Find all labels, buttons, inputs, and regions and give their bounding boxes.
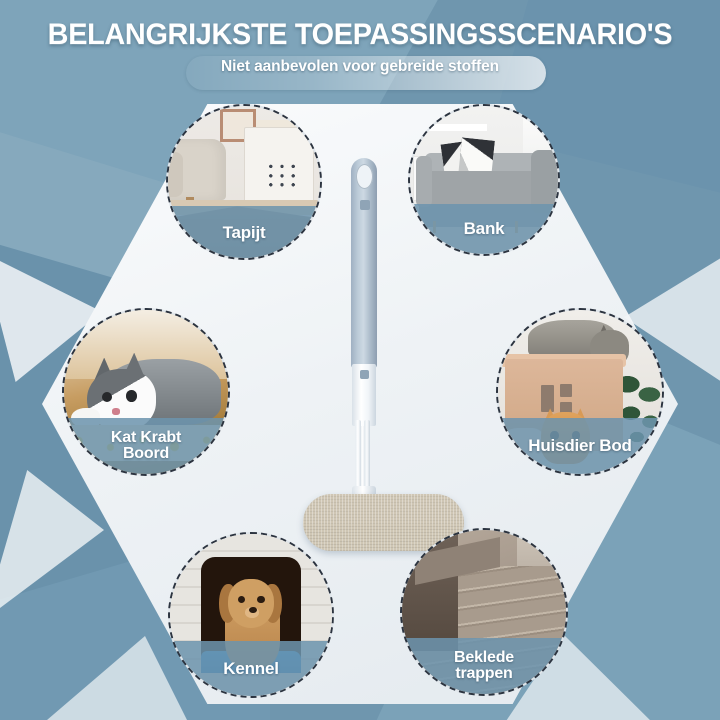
scenario-label-huisdier-bod: Huisdier Bod [524, 437, 635, 454]
scenario-label-band: Kennel [168, 641, 334, 696]
scenario-circle-huisdier-bod[interactable]: Huisdier Bod [496, 308, 664, 476]
scenario-label-band: Huisdier Bod [496, 418, 664, 474]
infographic-canvas: BELANGRIJKSTE TOEPASSINGSSCENARIO'S Niet… [0, 0, 720, 720]
scenario-label-band: Bank [408, 204, 560, 254]
brand-badge-collar-icon [360, 370, 369, 379]
scenario-label-tapijt: Tapijt [219, 224, 270, 241]
brush-pad-beige [303, 494, 464, 524]
scenario-circle-tapijt[interactable]: Tapijt [166, 104, 322, 260]
scenario-label-kat-krabt-boord: Kat Krabt Boord [107, 430, 185, 463]
scenario-label-band: Kat Krabt Boord [62, 418, 230, 474]
hanging-loop-icon [356, 164, 373, 189]
brand-badge-top-icon [360, 200, 370, 210]
scenario-circle-beklede-trappen[interactable]: Beklede trappen [400, 528, 568, 696]
scenario-circle-kennel[interactable]: Kennel [168, 532, 334, 698]
product-handle [351, 158, 377, 368]
scenario-label-bank: Bank [460, 220, 509, 237]
scenario-circle-bank[interactable]: Bank [408, 104, 560, 256]
scenario-label-beklede-trappen: Beklede trappen [450, 650, 518, 683]
scenario-label-kennel: Kennel [219, 660, 282, 677]
scenario-circle-kat-krabt-boord[interactable]: Kat Krabt Boord [62, 308, 230, 476]
scenario-label-band: Tapijt [166, 206, 322, 258]
scenario-label-band: Beklede trappen [400, 638, 568, 694]
